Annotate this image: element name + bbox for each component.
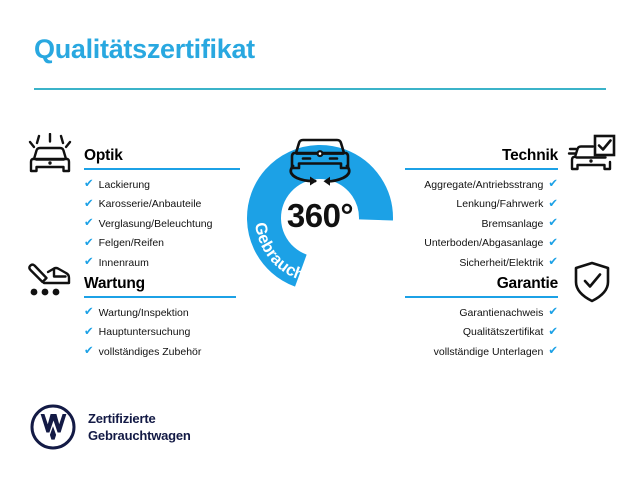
check-icon: ✔ bbox=[84, 346, 94, 358]
section-technik-header: Technik bbox=[405, 140, 558, 170]
list-item-label: Lackierung bbox=[99, 180, 150, 191]
list-item: ✔vollständiges Zubehör bbox=[84, 346, 236, 358]
list-item-label: Garantienachweis bbox=[459, 308, 543, 319]
section-garantie-title: Garantie bbox=[497, 275, 558, 293]
vw-logo bbox=[30, 404, 76, 450]
check-icon: ✔ bbox=[548, 199, 558, 211]
section-optik-items: ✔Lackierung ✔Karosserie/Anbauteile ✔Verg… bbox=[84, 179, 240, 269]
list-item-label: Qualitätszertifikat bbox=[463, 327, 544, 338]
list-item: ✔Wartung/Inspektion bbox=[84, 307, 236, 319]
section-garantie-items: Garantienachweis✔ Qualitätszertifikat✔ v… bbox=[405, 307, 558, 358]
badge-360-gebrauchtwagen-check: Gebrauchtwagen-Check 360° bbox=[233, 122, 407, 296]
list-item-label: Sicherheit/Elektrik bbox=[459, 258, 543, 269]
check-icon: ✔ bbox=[548, 238, 558, 250]
list-item-label: Aggregate/Antriebsstrang bbox=[424, 180, 543, 191]
check-icon: ✔ bbox=[548, 257, 558, 269]
section-wartung-divider bbox=[84, 296, 236, 298]
check-icon: ✔ bbox=[84, 199, 94, 211]
check-icon: ✔ bbox=[84, 238, 94, 250]
section-garantie-divider bbox=[405, 296, 558, 298]
check-icon: ✔ bbox=[548, 307, 558, 319]
check-icon: ✔ bbox=[84, 327, 94, 339]
list-item-label: Bremsanlage bbox=[481, 219, 543, 230]
section-optik: Optik ✔Lackierung ✔Karosserie/Anbauteile… bbox=[84, 140, 240, 277]
check-icon: ✔ bbox=[84, 218, 94, 230]
list-item: Sicherheit/Elektrik✔ bbox=[405, 257, 558, 269]
check-icon: ✔ bbox=[84, 257, 94, 269]
list-item-label: Hauptuntersuchung bbox=[99, 327, 191, 338]
check-icon: ✔ bbox=[548, 218, 558, 230]
section-technik-items: Aggregate/Antriebsstrang✔ Lenkung/Fahrwe… bbox=[405, 179, 558, 269]
list-item: Unterboden/Abgasanlage✔ bbox=[405, 238, 558, 250]
wrench-car-icon bbox=[24, 259, 76, 303]
list-item-label: Unterboden/Abgasanlage bbox=[424, 238, 543, 249]
footer-brand: Zertifizierte Gebrauchtwagen bbox=[30, 404, 191, 450]
list-item: Qualitätszertifikat✔ bbox=[405, 327, 558, 339]
list-item-label: Felgen/Reifen bbox=[99, 238, 164, 249]
list-item-label: Innenraum bbox=[99, 258, 149, 269]
check-icon: ✔ bbox=[548, 327, 558, 339]
list-item: Garantienachweis✔ bbox=[405, 307, 558, 319]
check-icon: ✔ bbox=[548, 346, 558, 358]
list-item: ✔Karosserie/Anbauteile bbox=[84, 199, 240, 211]
certificate-page: Qualitätszertifikat Optik ✔Lackie bbox=[0, 0, 640, 480]
section-optik-header: Optik bbox=[84, 140, 240, 170]
list-item-label: vollständige Unterlagen bbox=[434, 347, 544, 358]
list-item-label: Karosserie/Anbauteile bbox=[99, 199, 202, 210]
list-item: ✔Lackierung bbox=[84, 179, 240, 191]
car-checkbox-icon bbox=[566, 133, 616, 177]
list-item: Bremsanlage✔ bbox=[405, 218, 558, 230]
badge-center-label: 360° bbox=[287, 197, 353, 234]
shield-check-icon bbox=[572, 260, 612, 304]
footer-text: Zertifizierte Gebrauchtwagen bbox=[88, 410, 191, 445]
list-item-label: Verglasung/Beleuchtung bbox=[99, 219, 213, 230]
list-item: ✔Hauptuntersuchung bbox=[84, 327, 236, 339]
page-title: Qualitätszertifikat bbox=[34, 34, 255, 65]
check-icon: ✔ bbox=[548, 179, 558, 191]
footer-line-2: Gebrauchtwagen bbox=[88, 427, 191, 444]
list-item-label: Wartung/Inspektion bbox=[99, 308, 189, 319]
list-item-label: Lenkung/Fahrwerk bbox=[456, 199, 543, 210]
list-item: ✔Verglasung/Beleuchtung bbox=[84, 218, 240, 230]
section-technik: Technik Aggregate/Antriebsstrang✔ Lenkun… bbox=[405, 140, 558, 277]
list-item: ✔Innenraum bbox=[84, 257, 240, 269]
check-icon: ✔ bbox=[84, 179, 94, 191]
section-optik-title: Optik bbox=[84, 147, 123, 165]
section-technik-title: Technik bbox=[502, 147, 558, 165]
section-garantie-header: Garantie bbox=[405, 268, 558, 298]
list-item: ✔Felgen/Reifen bbox=[84, 238, 240, 250]
list-item-label: vollständiges Zubehör bbox=[99, 347, 202, 358]
section-garantie: Garantie Garantienachweis✔ Qualitätszert… bbox=[405, 268, 558, 366]
section-optik-divider bbox=[84, 168, 240, 170]
section-wartung-header: Wartung bbox=[84, 268, 236, 298]
section-wartung: Wartung ✔Wartung/Inspektion ✔Hauptunters… bbox=[84, 268, 236, 366]
list-item: vollständige Unterlagen✔ bbox=[405, 346, 558, 358]
section-technik-divider bbox=[405, 168, 558, 170]
car-shine-icon bbox=[24, 133, 76, 177]
section-wartung-title: Wartung bbox=[84, 275, 145, 293]
check-icon: ✔ bbox=[84, 307, 94, 319]
list-item: Aggregate/Antriebsstrang✔ bbox=[405, 179, 558, 191]
list-item: Lenkung/Fahrwerk✔ bbox=[405, 199, 558, 211]
section-wartung-items: ✔Wartung/Inspektion ✔Hauptuntersuchung ✔… bbox=[84, 307, 236, 358]
header-divider bbox=[34, 88, 606, 90]
footer-line-1: Zertifizierte bbox=[88, 410, 191, 427]
